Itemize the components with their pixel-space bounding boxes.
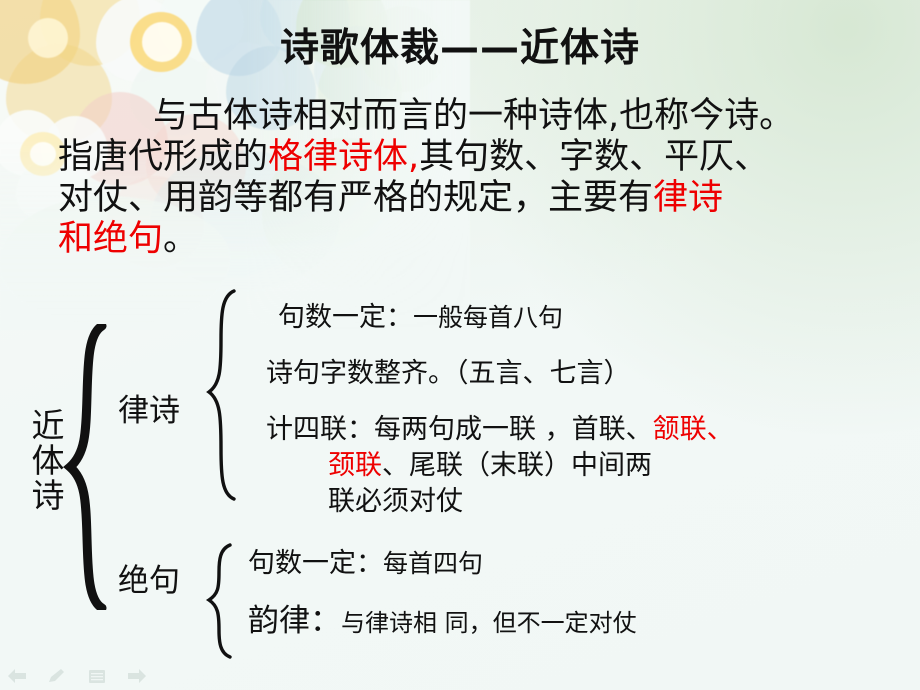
lushi-item-1-rest: 一般每首八句 (413, 303, 563, 332)
lushi-item-3-red-2: 颈联 (328, 450, 382, 481)
lushi-item-3-lead: 计四联：每两句成一联 ，首联、 (266, 414, 653, 445)
lushi-item-1-lead: 句数一定： (278, 302, 413, 333)
presenter-controls[interactable] (6, 667, 148, 685)
line2-text-b: 其句数、字数、平仄、 (419, 137, 769, 177)
jueju-item-1-lead: 句数一定： (248, 548, 383, 579)
paragraph-line-4: 和绝句。 (58, 219, 898, 260)
lushi-brace (204, 288, 240, 502)
lushi-item-2: 诗句字数整齐。（五言、七言） (266, 358, 631, 390)
line2-highlight: 格律诗体, (268, 137, 419, 177)
back-arrow-icon[interactable] (6, 667, 28, 685)
intro-paragraph: 与古体诗相对而言的一种诗体,也称今诗。 指唐代形成的格律诗体,其句数、字数、平仄… (58, 96, 898, 260)
line3-highlight: 律诗 (653, 178, 723, 218)
lushi-item-3-red-1: 颔联、 (653, 414, 734, 445)
line2-text-a: 指唐代形成的 (58, 137, 268, 177)
forward-arrow-icon[interactable] (126, 667, 148, 685)
pen-icon[interactable] (46, 667, 68, 685)
root-brace (62, 324, 110, 610)
lushi-item-1: 句数一定：一般每首八句 (278, 302, 563, 334)
line4-highlight: 和绝句 (58, 219, 163, 259)
menu-icon[interactable] (86, 667, 108, 685)
jueju-item-1: 句数一定：每首四句 (248, 548, 483, 580)
jueju-brace (204, 542, 236, 660)
jueju-item-2-rest: 与律诗相 同，但不一定对仗 (341, 609, 637, 637)
paragraph-line-3: 对仗、用韵等都有严格的规定，主要有律诗 (58, 178, 898, 219)
paragraph-line-2: 指唐代形成的格律诗体,其句数、字数、平仄、 (58, 137, 898, 178)
lushi-item-3-rest-2: 、尾联（末联）中间两 (382, 450, 652, 481)
poetry-structure-diagram: 近体诗 律诗 句数一定：一般每首八句 诗句字数整齐。（五言、七言） 计四联：每两… (0, 280, 920, 680)
line3-text-a: 对仗、用韵等都有严格的规定，主要有 (58, 178, 653, 218)
branch-label-jueju: 绝句 (118, 555, 180, 600)
lushi-item-3-rest-3: 联必须对仗 (328, 486, 463, 517)
lushi-item-3: 计四联：每两句成一联 ，首联、颔联、颈联、尾联（末联）中间两联必须对仗 (266, 412, 734, 520)
jueju-item-1-rest: 每首四句 (383, 549, 483, 578)
line4-text-b: 。 (163, 219, 198, 259)
jueju-item-2: 韵律：与律诗相 同，但不一定对仗 (248, 605, 637, 639)
page-title: 诗歌体裁——近体诗 (0, 17, 920, 73)
branch-label-lushi: 律诗 (118, 385, 180, 430)
jueju-item-2-lead: 韵律： (248, 603, 341, 639)
slide-canvas: 诗歌体裁——近体诗 与古体诗相对而言的一种诗体,也称今诗。 指唐代形成的格律诗体… (0, 0, 920, 690)
diagram-root-label: 近体诗 (26, 408, 64, 513)
paragraph-line-1: 与古体诗相对而言的一种诗体,也称今诗。 (58, 96, 898, 137)
